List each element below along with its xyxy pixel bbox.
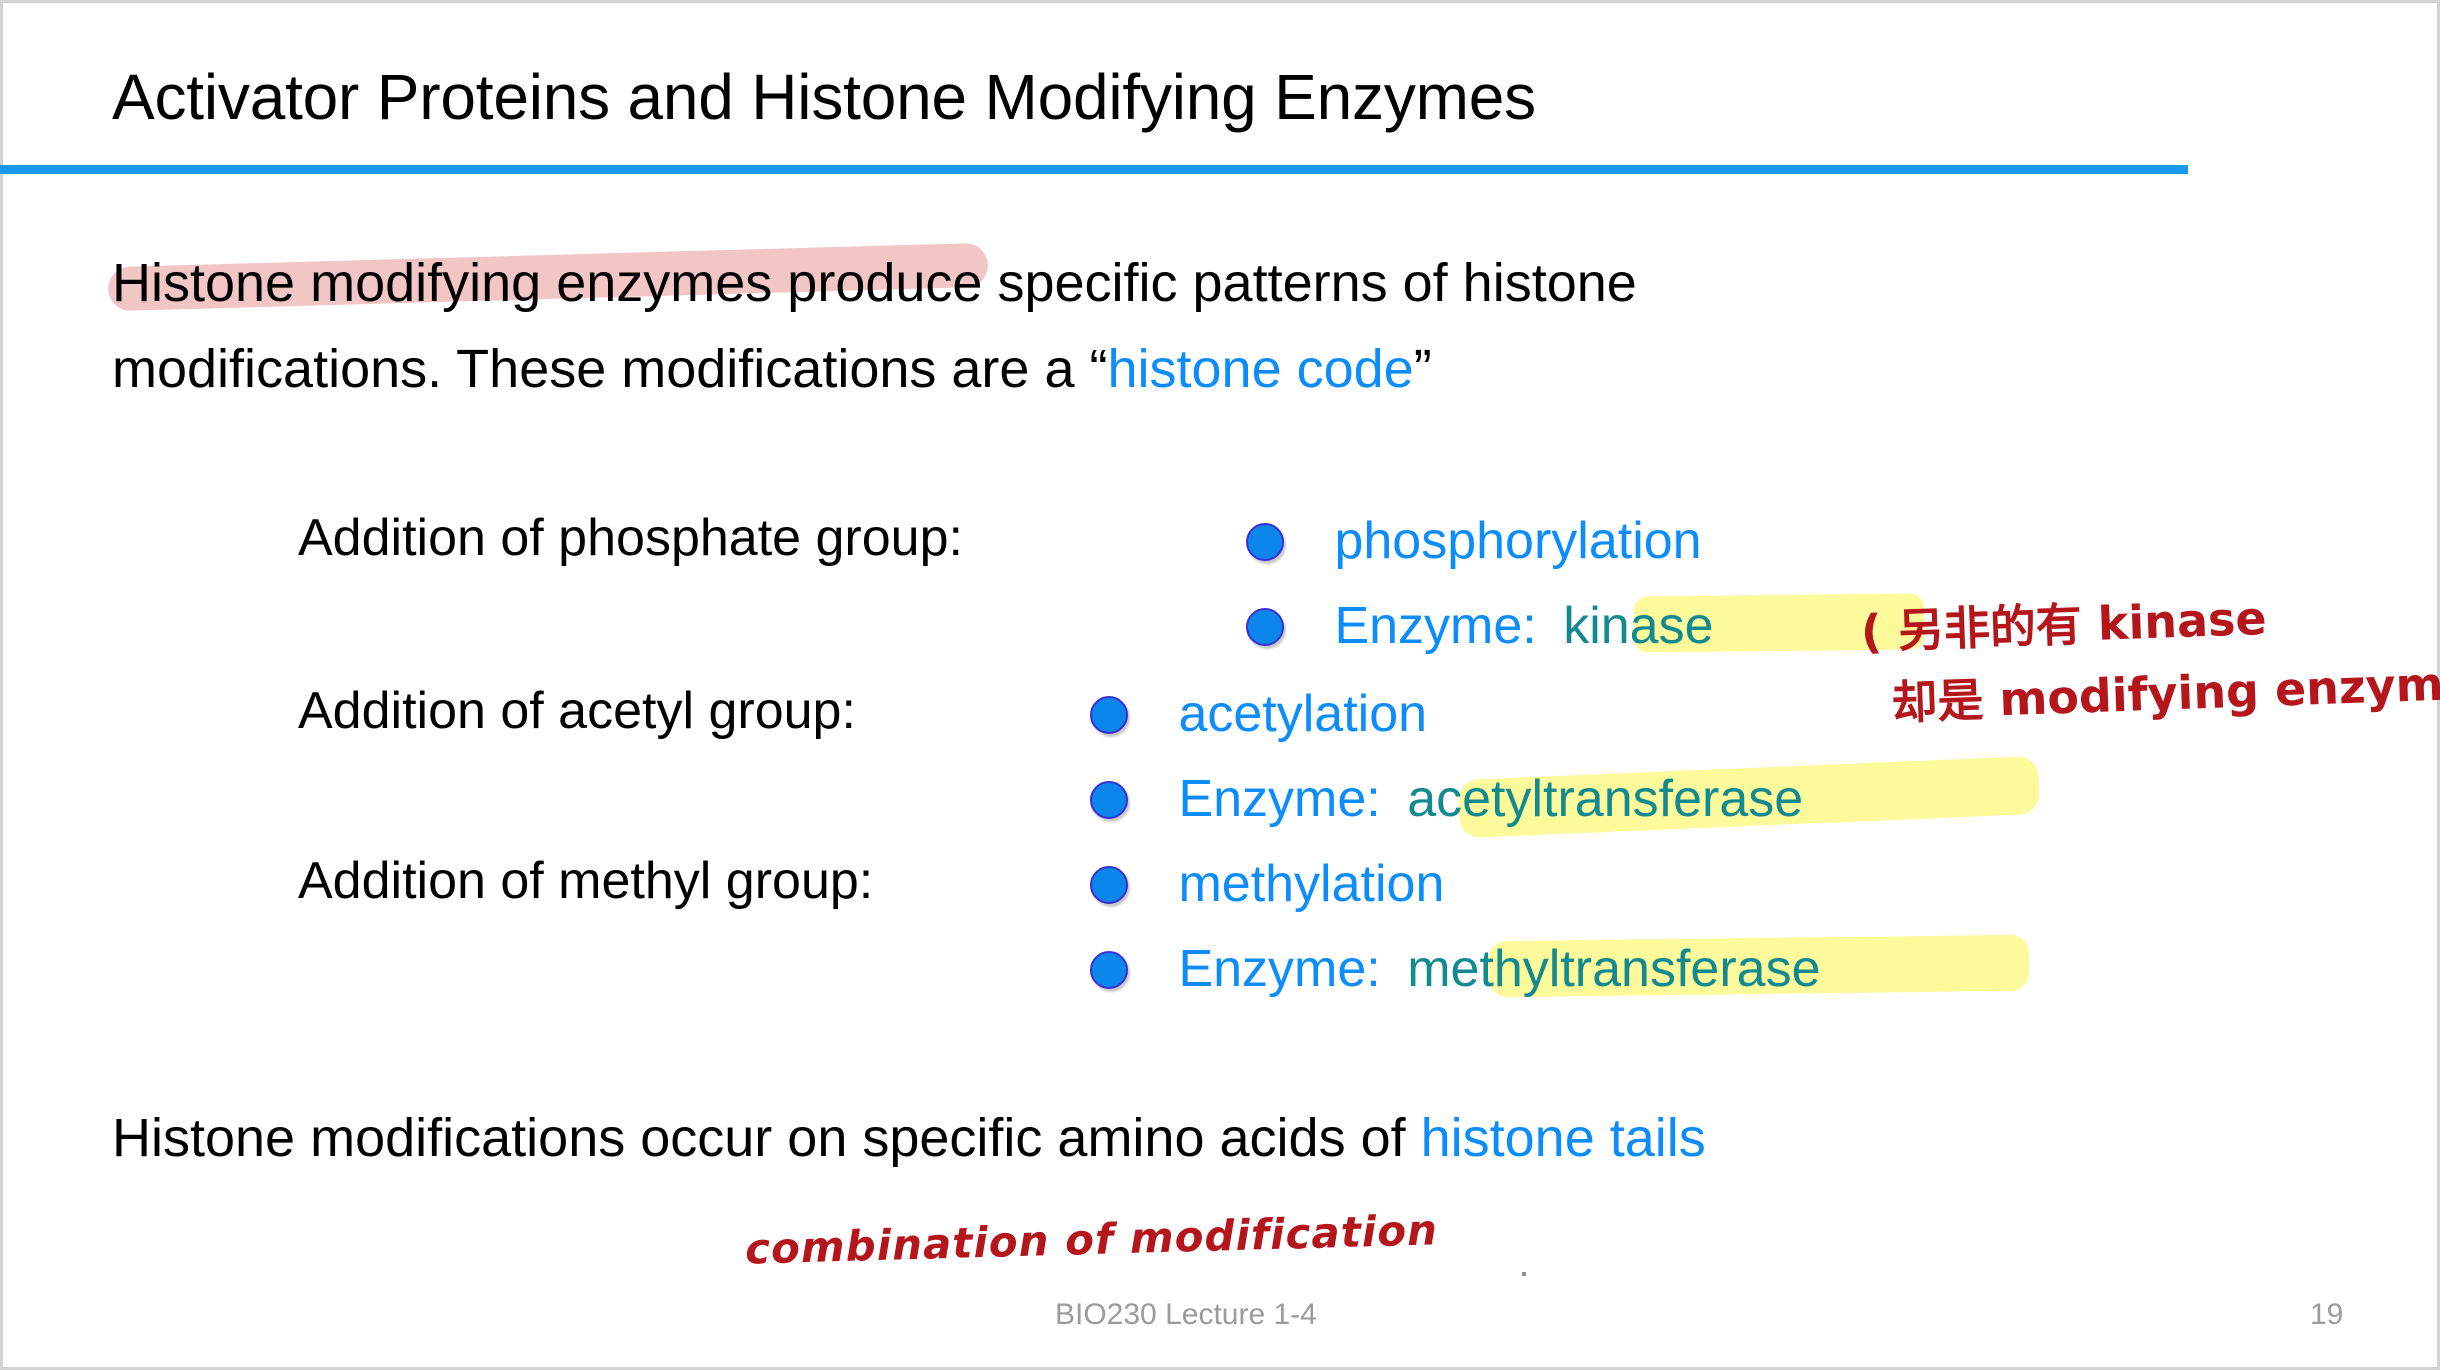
blue-dot-bullet-icon (1246, 523, 1284, 561)
enzyme-name-kinase: kinase (1563, 597, 1713, 655)
intro-line-2-lead: modifications. These modifications are a (112, 339, 1089, 399)
blue-dot-bullet-icon (1090, 696, 1128, 734)
stray-dot-mark (1522, 1272, 1526, 1276)
handwritten-note-line-2: 却是 modifying enzyme) (1890, 646, 2440, 739)
enzyme-name-methyltransferase: methyltransferase (1407, 940, 1820, 998)
blue-dot-bullet-icon (1090, 866, 1128, 904)
list-item-phosphorylation: phosphorylation (1246, 515, 1702, 567)
histone-tails-term: histone tails (1421, 1108, 1706, 1168)
acetylation-term: acetylation (1178, 685, 1427, 743)
quote-close: ” (1414, 339, 1432, 399)
histone-code-term: histone code (1107, 339, 1413, 399)
slide-canvas: Activator Proteins and Histone Modifying… (0, 0, 2440, 1370)
acetyl-group-label: Addition of acetyl group: (298, 682, 856, 740)
methylation-term: methylation (1178, 855, 1444, 913)
list-item-methyl-label: Addition of methyl group: (298, 855, 873, 907)
quote-open: “ (1089, 339, 1107, 399)
list-item-methylation: methylation (1090, 858, 1444, 910)
enzyme-label-methyltransferase: Enzyme: (1178, 940, 1380, 998)
handwritten-note-kinase: ( 另非的有 kinase 却是 modifying enzyme) (1860, 574, 2440, 740)
intro-line-2: modifications. These modifications are a… (112, 326, 1637, 412)
handwritten-note-line-1: ( 另非的有 kinase (1860, 591, 2267, 659)
title-divider (0, 165, 2188, 174)
enzyme-name-acetyltransferase: acetyltransferase (1407, 770, 1803, 828)
phosphate-group-label: Addition of phosphate group: (298, 509, 963, 567)
list-item-acetylation: acetylation (1090, 688, 1427, 740)
bottom-paragraph-lead: Histone modifications occur on specific … (112, 1108, 1421, 1168)
blue-dot-bullet-icon (1090, 951, 1128, 989)
slide-page-number: 19 (2310, 1298, 2343, 1332)
intro-line-1-rest: produce specific patterns of histone (772, 253, 1637, 313)
handwritten-note-combination: combination of modification (744, 1205, 1438, 1273)
phosphorylation-term: phosphorylation (1334, 512, 1701, 570)
intro-line-1: Histone modifying enzymes produce specif… (112, 240, 1637, 326)
footer-course-label: BIO230 Lecture 1-4 (1055, 1298, 1317, 1332)
blue-dot-bullet-icon (1246, 608, 1284, 646)
methyl-group-label: Addition of methyl group: (298, 852, 873, 910)
blue-dot-bullet-icon (1090, 781, 1128, 819)
intro-highlighted-phrase: Histone modifying enzymes (112, 253, 772, 313)
intro-paragraph: Histone modifying enzymes produce specif… (112, 240, 1637, 412)
list-item-phosphate-label: Addition of phosphate group: (298, 512, 963, 564)
enzyme-label-kinase: Enzyme: (1334, 597, 1536, 655)
list-item-enzyme-kinase: Enzyme: kinase (1246, 600, 1714, 652)
page-title: Activator Proteins and Histone Modifying… (112, 62, 1536, 132)
enzyme-label-acetyltransferase: Enzyme: (1178, 770, 1380, 828)
bottom-paragraph: Histone modifications occur on specific … (112, 1095, 1706, 1181)
list-item-enzyme-methyltransferase: Enzyme: methyltransferase (1090, 943, 1821, 995)
list-item-acetyl-label: Addition of acetyl group: (298, 685, 856, 737)
list-item-enzyme-acetyltransferase: Enzyme: acetyltransferase (1090, 773, 1803, 825)
